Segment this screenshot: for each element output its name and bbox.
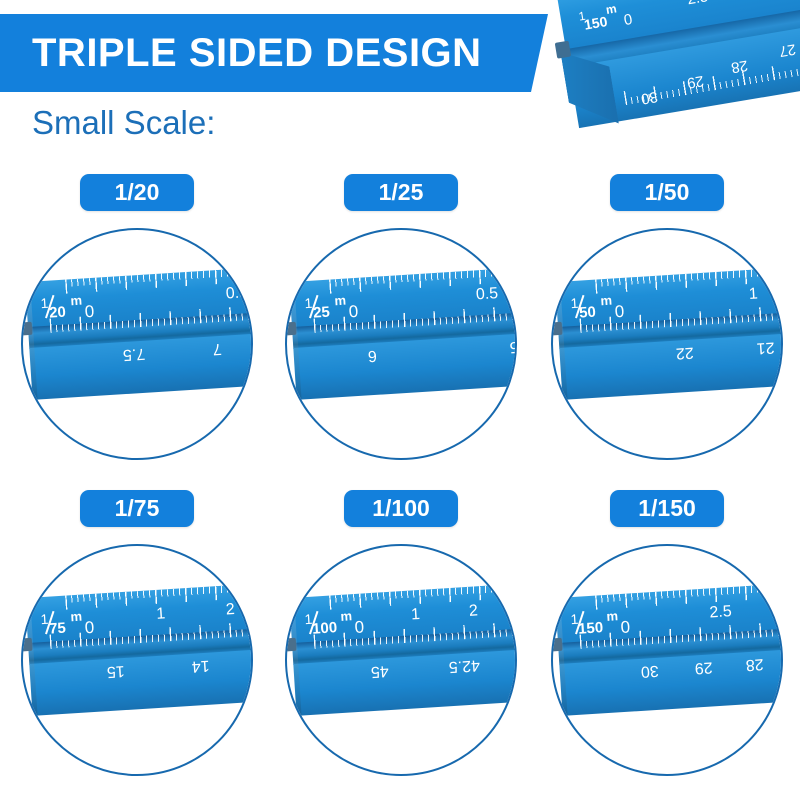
scale-badge-label: 1/75 xyxy=(106,497,168,520)
ruler-top-ticks-major xyxy=(329,584,517,610)
ruler-top-number: 2.5 xyxy=(709,604,732,621)
scale-cell-1-25: 1/25125m00.560.5 xyxy=(268,168,534,484)
ruler-illustration: 150m012221 xyxy=(555,268,783,404)
product-bottom-number-0: 30 xyxy=(640,89,659,107)
product-ruler-body: 1 150 m 0 2.5 5 30 29 28 27 xyxy=(556,0,800,138)
ruler-bottom-number: 42.5 xyxy=(449,656,481,674)
scale-grid: 1/20120m00.57.571/25125m00.560.51/50150m… xyxy=(0,168,800,800)
ruler-bottom-number: 28 xyxy=(745,655,764,672)
ruler-scale-mark: 1150m0 xyxy=(570,608,631,638)
ruler-bottom-number: 0.5 xyxy=(509,337,517,354)
ruler-bottom-number: 14 xyxy=(192,657,211,674)
ruler-zero-label: 0 xyxy=(84,303,95,321)
ruler-bottom-number: 7.5 xyxy=(122,345,145,362)
ruler-top-number: 2 xyxy=(469,603,479,620)
ruler-scale-mark: 175m0 xyxy=(40,608,95,637)
scale-cell-1-75: 1/75175m0121514 xyxy=(4,484,270,800)
header-banner: TRIPLE SIDED DESIGN xyxy=(0,14,548,92)
scale-cell-1-100: 1/1001100m0124542.5 xyxy=(268,484,534,800)
scale-detail-circle: 1100m0124542.5 xyxy=(285,544,517,776)
section-heading: Small Scale: xyxy=(32,106,215,139)
product-top-number-0: 0 xyxy=(623,12,634,28)
ruler-illustration: 1100m0124542.5 xyxy=(289,584,517,720)
page-title: TRIPLE SIDED DESIGN xyxy=(32,33,482,73)
ruler-end-cap xyxy=(285,322,296,336)
ruler-zero-label: 0 xyxy=(614,303,625,321)
scale-detail-circle: 120m00.57.57 xyxy=(21,228,253,460)
scale-cell-1-150: 1/1501150m02.5302928 xyxy=(534,484,800,800)
scale-mark-denominator: 150 xyxy=(578,620,604,637)
scale-mark-denominator: 20 xyxy=(49,305,67,321)
scale-mark-unit: m xyxy=(600,294,612,308)
ruler-bottom-number: 45 xyxy=(370,662,389,679)
scale-badge-1-20[interactable]: 1/20 xyxy=(80,174,194,211)
scale-cell-1-20: 1/20120m00.57.57 xyxy=(4,168,270,484)
scale-badge-1-150[interactable]: 1/150 xyxy=(610,490,724,527)
scale-badge-label: 1/100 xyxy=(370,497,432,520)
product-scale-mark-unit: m xyxy=(605,2,618,16)
scale-mark-denominator: 100 xyxy=(312,620,338,637)
ruler-end-cap xyxy=(551,322,562,336)
ruler-top-number: 1 xyxy=(748,286,758,303)
product-photo: 1 150 m 0 2.5 5 30 29 28 27 xyxy=(548,0,800,168)
ruler-bottom-number: 7 xyxy=(212,340,222,357)
scale-badge-1-75[interactable]: 1/75 xyxy=(80,490,194,527)
scale-badge-1-50[interactable]: 1/50 xyxy=(610,174,724,211)
product-bottom-number-3: 27 xyxy=(778,41,797,59)
scale-cell-1-50: 1/50150m012221 xyxy=(534,168,800,484)
ruler-top-number: 2 xyxy=(225,602,235,619)
scale-badge-label: 1/150 xyxy=(636,497,698,520)
ruler-illustration: 125m00.560.5 xyxy=(289,268,517,404)
ruler-end-cap xyxy=(551,638,562,652)
ruler-end-cap xyxy=(21,322,32,336)
product-top-number-1: 2.5 xyxy=(686,0,709,7)
scale-mark-unit: m xyxy=(340,609,352,623)
ruler-end-cap xyxy=(285,638,296,652)
product-scale-mark-denominator: 150 xyxy=(583,14,608,32)
ruler-scale-mark: 1100m0 xyxy=(304,608,365,638)
scale-mark-unit: m xyxy=(334,294,346,308)
scale-badge-label: 1/50 xyxy=(636,181,698,204)
product-bottom-number-1: 29 xyxy=(686,73,705,91)
product-ruler-end-cap xyxy=(555,41,571,59)
ruler-zero-label: 0 xyxy=(84,619,95,637)
scale-detail-circle: 1150m02.5302928 xyxy=(551,544,783,776)
scale-mark-unit: m xyxy=(70,294,82,308)
ruler-illustration: 120m00.57.57 xyxy=(25,268,253,404)
ruler-end-cap xyxy=(21,638,32,652)
ruler-scale-mark: 150m0 xyxy=(570,292,625,321)
ruler-scale-mark: 120m0 xyxy=(40,292,95,321)
ruler-zero-label: 0 xyxy=(620,618,631,636)
ruler-bottom-number: 6 xyxy=(368,347,378,364)
product-bottom-number-2: 28 xyxy=(730,57,749,75)
ruler-illustration: 175m0121514 xyxy=(25,584,253,720)
ruler-top-number: 0.5 xyxy=(225,285,248,302)
scale-mark-unit: m xyxy=(606,609,618,623)
ruler-bottom-number: 30 xyxy=(641,662,660,679)
ruler-scale-mark: 125m0 xyxy=(304,292,359,321)
scale-detail-circle: 150m012221 xyxy=(551,228,783,460)
ruler-zero-label: 0 xyxy=(354,618,365,636)
ruler-illustration: 1150m02.5302928 xyxy=(555,584,783,720)
ruler-top-number: 0.5 xyxy=(475,286,498,303)
scale-badge-1-100[interactable]: 1/100 xyxy=(344,490,458,527)
ruler-zero-label: 0 xyxy=(348,303,359,321)
ruler-bottom-number: 15 xyxy=(106,662,125,679)
scale-mark-denominator: 25 xyxy=(313,305,331,321)
ruler-top-number: 1 xyxy=(411,607,421,624)
ruler-bottom-number: 21 xyxy=(756,338,775,355)
ruler-bottom-number: 29 xyxy=(694,658,713,675)
ruler-bottom-number: 22 xyxy=(675,344,694,361)
scale-badge-label: 1/20 xyxy=(106,181,168,204)
scale-badge-label: 1/25 xyxy=(370,181,432,204)
scale-mark-denominator: 50 xyxy=(579,305,597,321)
ruler-top-ticks-major xyxy=(595,584,783,610)
scale-mark-unit: m xyxy=(70,610,82,624)
scale-detail-circle: 125m00.560.5 xyxy=(285,228,517,460)
scale-mark-denominator: 75 xyxy=(49,621,67,637)
scale-badge-1-25[interactable]: 1/25 xyxy=(344,174,458,211)
scale-detail-circle: 175m0121514 xyxy=(21,544,253,776)
ruler-top-number: 1 xyxy=(156,606,166,623)
